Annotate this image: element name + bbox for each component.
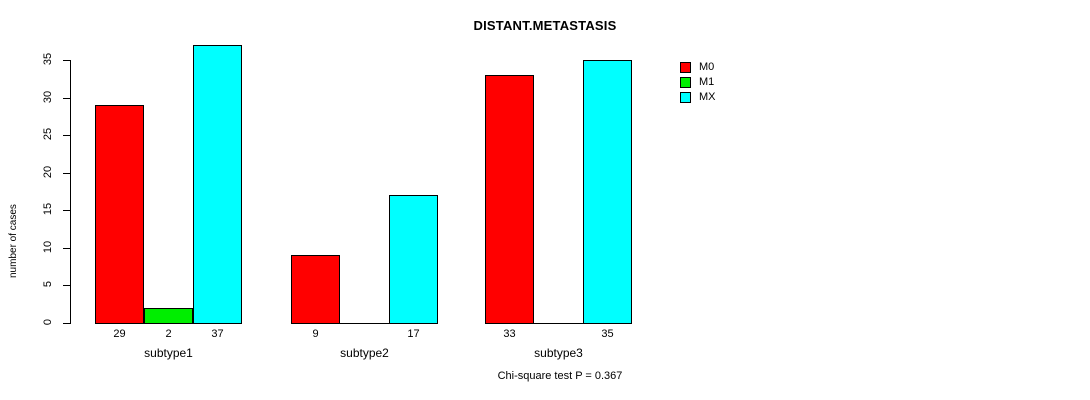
y-axis-tick <box>63 248 70 249</box>
y-axis-tick <box>63 60 70 61</box>
bar-value-label: 33 <box>485 328 534 340</box>
y-axis-tick <box>63 135 70 136</box>
bar[interactable] <box>583 60 632 324</box>
legend-label-mx: MX <box>699 90 716 105</box>
bar[interactable] <box>485 75 534 324</box>
bar[interactable] <box>291 255 340 324</box>
y-axis-tick-label: 25 <box>42 121 54 147</box>
legend-swatch-mx <box>680 92 691 103</box>
y-axis-tick <box>63 210 70 211</box>
bar-chart-plot: DISTANT.METASTASIS number of cases 05101… <box>0 0 1090 400</box>
y-axis-tick <box>63 323 70 324</box>
bar[interactable] <box>389 195 438 324</box>
y-axis-tick <box>63 98 70 99</box>
bar-value-label: 29 <box>95 328 144 340</box>
y-axis-tick-label: 0 <box>42 309 54 335</box>
chart-title-text: DISTANT.METASTASIS <box>474 18 617 33</box>
y-axis-tick-label: 15 <box>42 196 54 222</box>
bar[interactable] <box>193 45 242 324</box>
y-axis-tick <box>63 285 70 286</box>
bar[interactable] <box>144 308 193 324</box>
bar[interactable] <box>95 105 144 324</box>
bar-value-label: 37 <box>193 328 242 340</box>
y-axis-line <box>70 60 71 324</box>
bar-value-label: 35 <box>583 328 632 340</box>
y-axis-tick-label: 20 <box>42 159 54 185</box>
group-label-subtype3: subtype3 <box>485 346 632 360</box>
bar-value-label: 2 <box>144 328 193 340</box>
y-axis-tick-label: 5 <box>42 271 54 297</box>
y-axis-tick-label: 30 <box>42 84 54 110</box>
legend-label-m1: M1 <box>699 75 714 90</box>
group-label-subtype1: subtype1 <box>95 346 242 360</box>
legend-label-m0: M0 <box>699 60 714 75</box>
legend-swatch-m0 <box>680 62 691 73</box>
chart-title: DISTANT.METASTASIS <box>0 18 1090 33</box>
group-label-subtype2: subtype2 <box>291 346 438 360</box>
bar-value-label: 9 <box>291 328 340 340</box>
bar-value-label: 17 <box>389 328 438 340</box>
y-axis-tick-label: 10 <box>42 234 54 260</box>
y-axis-tick <box>63 173 70 174</box>
legend-swatch-m1 <box>680 77 691 88</box>
chi-square-annotation: Chi-square test P = 0.367 <box>460 370 660 382</box>
y-axis-title: number of cases <box>8 260 19 278</box>
y-axis-tick-label: 35 <box>42 46 54 72</box>
